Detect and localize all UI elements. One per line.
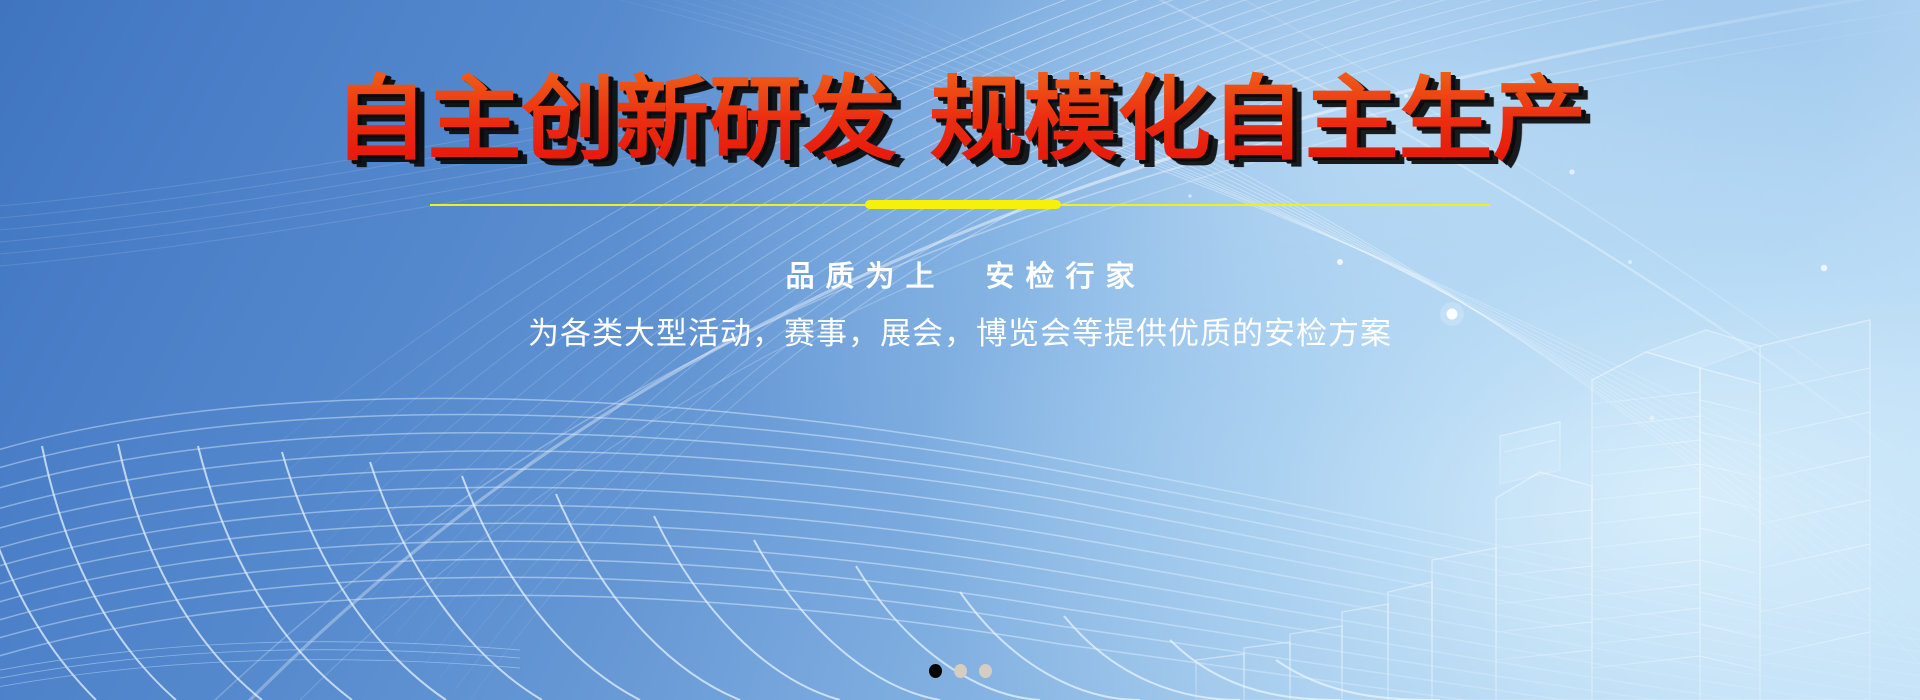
carousel-dots: [0, 664, 1920, 678]
yellow-divider: [430, 198, 1490, 212]
carousel-dot-2[interactable]: [954, 664, 967, 678]
hero-banner: 自主创新研发 规模化自主生产 品质为上 安检行家 为各类大型活动，赛事，展会，博…: [0, 0, 1920, 700]
banner-subtitle-primary: 品质为上 安检行家: [0, 256, 1920, 296]
divider-thick-line: [865, 200, 1061, 209]
banner-headline: 自主创新研发 规模化自主生产: [0, 0, 1920, 172]
carousel-dot-3[interactable]: [979, 664, 992, 678]
banner-subtitle-secondary: 为各类大型活动，赛事，展会，博览会等提供优质的安检方案: [0, 312, 1920, 356]
carousel-dot-1[interactable]: [929, 664, 942, 678]
banner-content: 自主创新研发 规模化自主生产 品质为上 安检行家 为各类大型活动，赛事，展会，博…: [0, 0, 1920, 356]
